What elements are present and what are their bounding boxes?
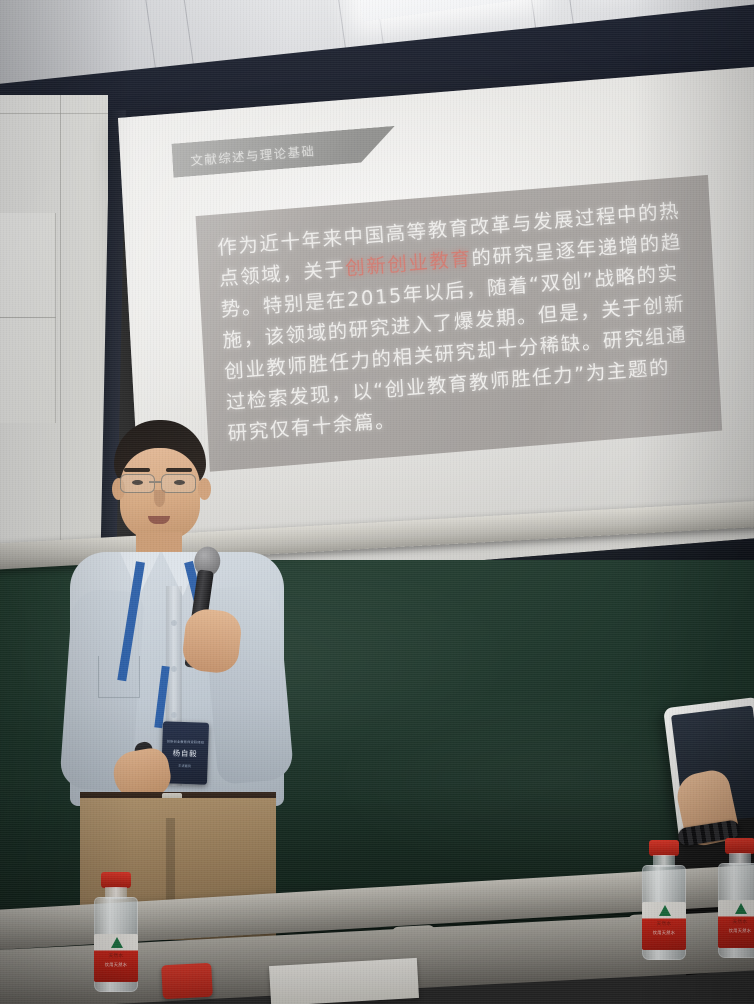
bottle-label-subtext: 饮用天然水 <box>94 962 138 968</box>
bottle-cap <box>725 838 754 854</box>
shirt-button <box>171 666 177 672</box>
tree-icon <box>735 903 747 914</box>
eyebrow-right <box>166 468 192 472</box>
shirt-button <box>171 712 177 718</box>
badge-subtitle: 主讲嘉宾 <box>178 762 191 767</box>
bottle-label-text: 天然水 <box>94 953 138 959</box>
eyebrow-left <box>124 468 150 472</box>
hand-right-holding-microphone <box>181 607 243 675</box>
bottle-label-text: 天然水 <box>718 919 754 925</box>
bottle-label: 天然水 饮用天然水 <box>94 934 138 982</box>
badge-name: 杨自毅 <box>172 747 197 759</box>
glasses-bridge <box>149 481 161 483</box>
glasses-lens-right <box>161 474 196 493</box>
shirt-button <box>171 620 177 626</box>
presenter: 创新创业教育师资研修班 杨自毅 主讲嘉宾 <box>62 420 292 940</box>
water-bottle-right-a[interactable]: 天然水 饮用天然水 <box>640 840 688 960</box>
nose <box>154 490 165 507</box>
tree-icon <box>659 905 671 916</box>
red-object-on-rail[interactable] <box>161 963 213 1000</box>
bottle-label-text: 天然水 <box>642 921 686 927</box>
wall-panel <box>0 213 56 423</box>
papers-on-podium[interactable] <box>269 958 419 1004</box>
water-bottle-right-b[interactable]: 天然水 饮用天然水 <box>716 838 754 958</box>
bottle-label: 天然水 饮用天然水 <box>642 902 686 950</box>
bottle-label-subtext: 饮用天然水 <box>642 930 686 936</box>
bottle-label-subtext: 饮用天然水 <box>718 928 754 934</box>
slide-header-label: 文献综述与理论基础 <box>172 140 316 170</box>
bottle-cap <box>649 840 679 856</box>
badge-org-line: 创新创业教育师资研修班 <box>167 738 204 744</box>
bottle-label: 天然水 饮用天然水 <box>718 900 754 948</box>
tree-icon <box>111 937 123 948</box>
glasses-lens-left <box>120 474 155 493</box>
water-bottle-left[interactable]: 天然水 饮用天然水 <box>92 872 140 992</box>
photo-scene: 文献综述与理论基础 作为近十年来中国高等教育改革与发展过程中的热 点领域，关于创… <box>0 0 754 1004</box>
bottle-cap <box>101 872 131 888</box>
